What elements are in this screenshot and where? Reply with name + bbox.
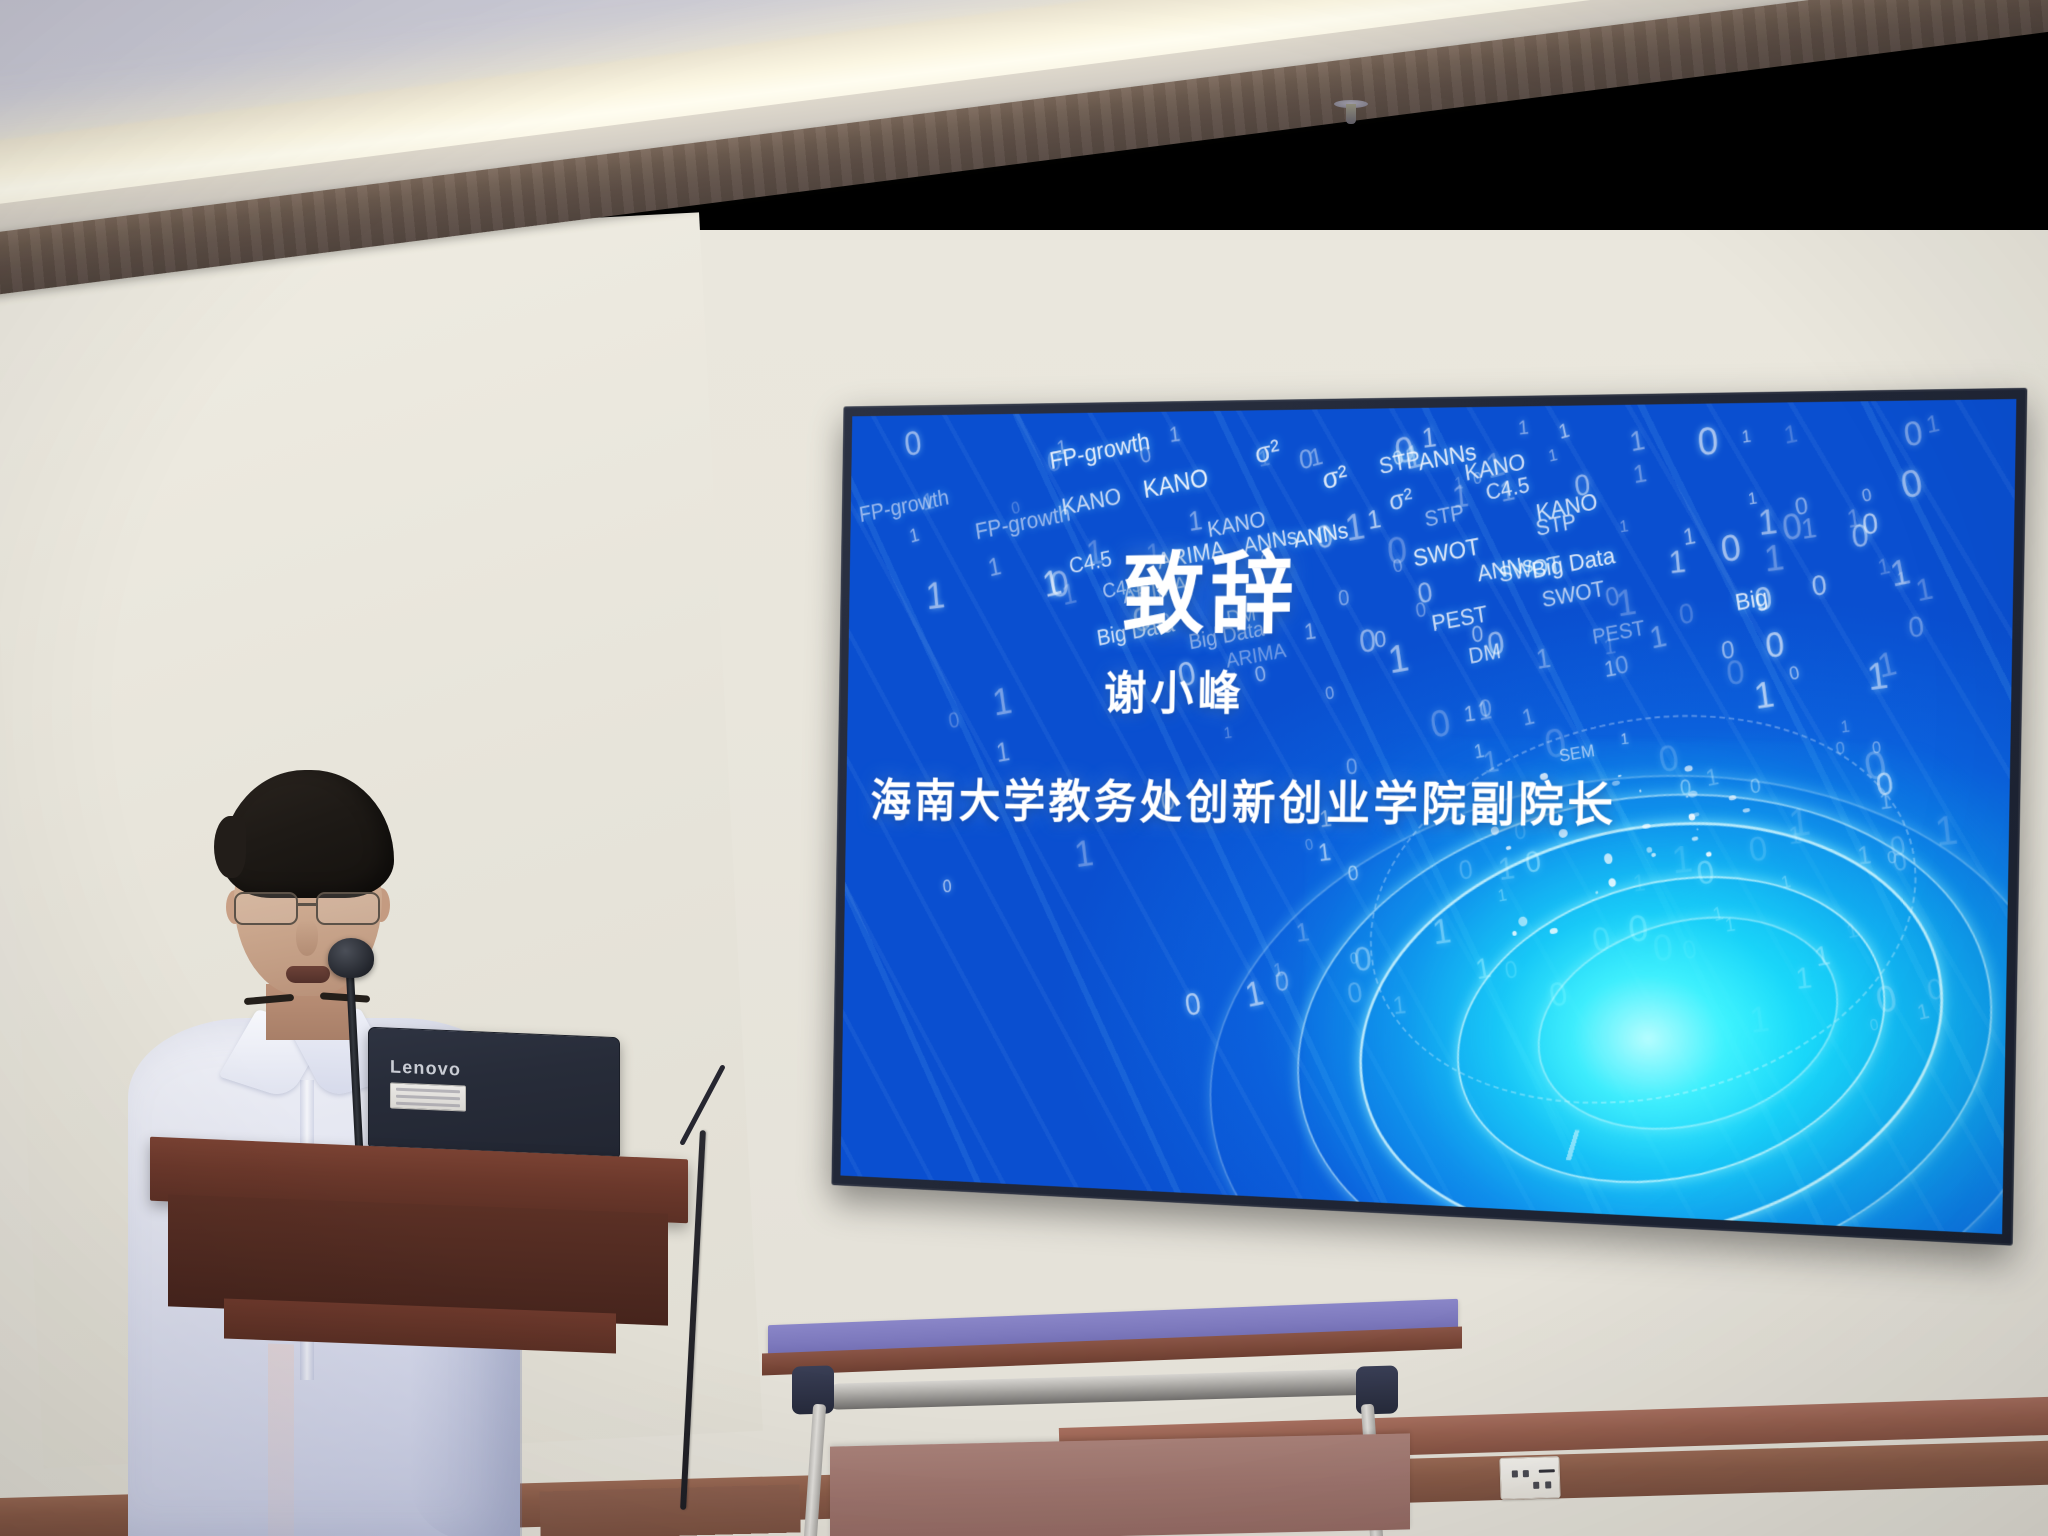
table-modesty-panel [830,1433,1410,1536]
laptop-brand-label: Lenovo [390,1057,461,1081]
glasses-bridge [298,903,318,906]
table-leg-left [803,1404,826,1536]
slide-surface: 0110110110010100110101000110111010101001… [840,399,2016,1234]
laptop[interactable]: Lenovo [368,1032,620,1152]
lectern-column [258,1335,558,1536]
screen-bezel: 0110110110010100110101000110111010101001… [831,388,2027,1246]
lens-left [234,892,298,925]
slide-title: 致辞 [1122,520,1301,652]
power-outlet-icon [1499,1456,1560,1500]
lens-right [316,892,380,925]
presentation-screen[interactable]: 0110110110010100110101000110111010101001… [831,388,2027,1246]
lectern [150,1148,710,1536]
laptop-asset-sticker [390,1082,466,1111]
nose [296,920,318,956]
microphone-stem [346,974,363,1150]
folding-conference-table [760,1300,1480,1536]
hair [222,770,394,898]
table-crossbar [826,1368,1392,1410]
lectern-highlight [268,1344,294,1536]
slide-speaker-name: 谢小峰 [1104,656,1246,724]
microphone-head [328,938,374,978]
sprinkler-icon [1334,92,1368,126]
conference-room-photo: 0110110110010100110101000110111010101001… [0,0,2048,1536]
slide-speaker-role: 海南大学教务处创新创业学院副院长 [870,764,1617,836]
